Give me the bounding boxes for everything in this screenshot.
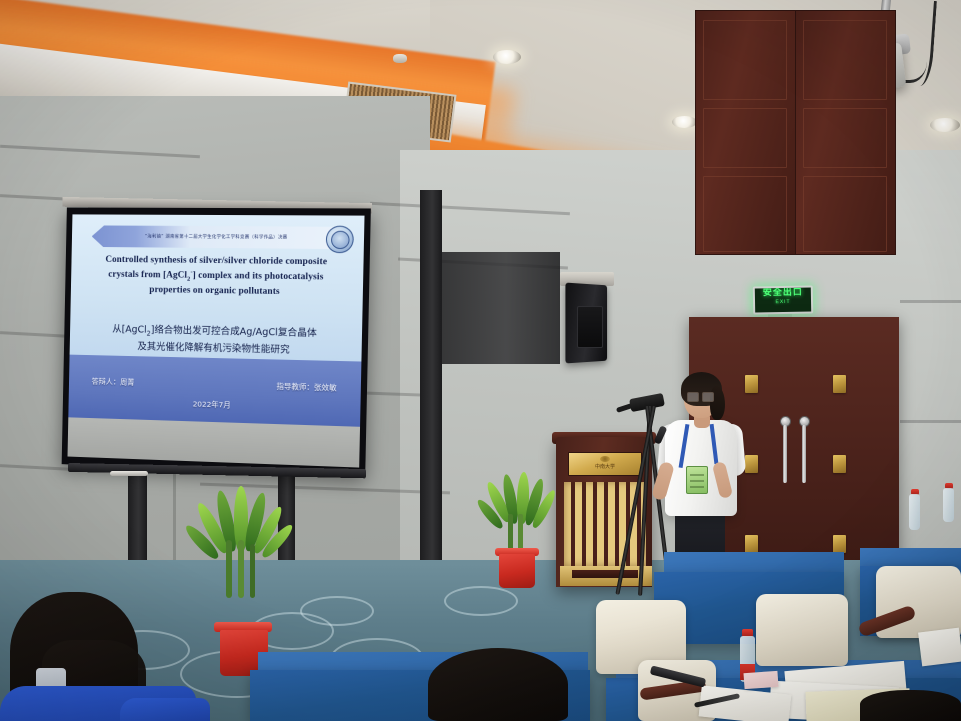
wall-upper-band [440,252,560,364]
slide-advisor-label: 指导教师：张效敏 [276,381,336,394]
door-panel-inset [803,176,887,252]
presenter-glasses [687,392,714,400]
podium-plaque-logo-icon [600,456,610,462]
door-decor-plate [833,455,846,473]
door-decor-plate [745,455,758,473]
wall-panel-groove [900,300,961,303]
podium-plaque: 中南大学 [568,452,642,476]
projection-screen: “海利铀” 湖南省第十二届大学生化学化工学科竞赛（科学作品）决赛 Control… [62,207,371,475]
university-emblem-icon [325,225,353,252]
slide-presenter-label: 答辩人：周菁 [91,376,134,388]
plant-stem [250,544,255,598]
door-decor-plate [745,535,758,553]
exit-sign-en-label: EXIT [755,299,811,307]
slide-title: Controlled synthesis of silver/silver ch… [85,254,349,299]
audience-shoulder-left [120,698,210,721]
slide-chinese-subtitle: 从[AgCl2]络合物出发可控合成Ag/AgCl复合晶体 及其光催化降解有机污染… [81,322,350,358]
door-panel-inset [703,176,787,252]
badge-line [690,480,704,482]
university-emblem-inner [331,231,350,249]
door-decor-plate [833,375,846,393]
slide-banner: “海利铀” 湖南省第十二届大学生化学化工学科竞赛（科学作品）决赛 [91,225,343,249]
door-decor-plate [745,375,758,393]
smoke-detector [393,54,407,63]
glasses-lens-left [687,392,699,402]
slide-cn-line-1b: ]络合物出发可控合成Ag/AgCl复合晶体 [151,325,317,339]
door-handle-right[interactable] [802,425,806,483]
audience-head-center [428,648,568,721]
door-panel-inset [803,108,887,168]
water-bottle[interactable] [943,488,954,522]
chair[interactable] [756,594,848,666]
wall-panel-groove [900,420,961,423]
badge-line [690,486,704,488]
audience-head-right [860,690,961,721]
carpet-pattern [300,596,374,626]
badge-line [690,474,704,476]
door-handle-left[interactable] [783,425,787,483]
slide-cn-line-1a: 从[AgCl [112,324,147,336]
exit-sign: 安全出口 EXIT [753,285,813,314]
downlight-1 [493,50,521,64]
screen-surface: “海利铀” 湖南省第十二届大学生化学化工学科竞赛（科学作品）决赛 Control… [68,214,365,467]
slide-title-line-2: crystals from [AgCl2-] complex and its p… [85,266,348,288]
glasses-lens-right [702,392,714,402]
conference-room-scene: 安全出口 EXIT “海利铀” 湖南省第十二届大学生化学化工学科竞赛（科学作品）… [0,0,961,721]
slide-banner-text: “海利铀” 湖南省第十二届大学生化学化工学科竞赛（科学作品）决赛 [144,234,287,241]
plant-stem [226,540,232,598]
carpet-pattern [444,586,518,616]
id-badge [686,466,708,494]
document-note[interactable] [743,671,778,689]
door-decor-plate [833,535,846,553]
speaker-cone [577,306,603,348]
slide-title-subscript: 2 [187,276,190,283]
plant-pot [499,554,535,588]
door-panel-inset [703,20,787,100]
screen-pull-handle[interactable] [110,471,148,476]
downlight-2 [672,116,697,128]
downlight-4 [930,118,960,132]
water-bottle[interactable] [909,494,920,530]
documents-stack[interactable] [918,628,961,667]
slide-title-line-2a: crystals from [AgCl [108,270,187,281]
podium-base-trim [572,570,638,578]
door-panel-inset [803,20,887,100]
door-panel-inset [703,108,787,168]
slide-overscan-band [68,418,361,468]
exit-sign-cn-label: 安全出口 [755,288,811,300]
slide-title-line-2b: ] complex and its photocatalysis [192,271,323,283]
wall-pillar-right [420,190,442,610]
plant-stem [238,540,244,598]
podium-plaque-text: 中南大学 [569,463,641,470]
